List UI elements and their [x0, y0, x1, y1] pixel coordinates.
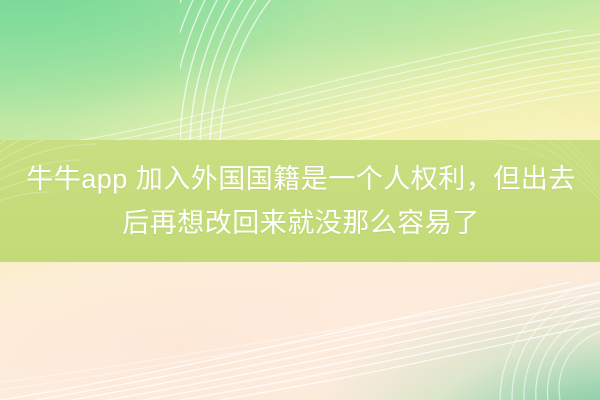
headline-line-2: 后再想改回来就没那么容易了 [120, 201, 480, 245]
headline-band: 牛牛app 加入外国国籍是一个人权利，但出去 后再想改回来就没那么容易了 [0, 140, 600, 262]
headline-line-1: 牛牛app 加入外国国籍是一个人权利，但出去 [24, 157, 576, 201]
banner-image: 牛牛app 加入外国国籍是一个人权利，但出去 后再想改回来就没那么容易了 [0, 0, 600, 400]
